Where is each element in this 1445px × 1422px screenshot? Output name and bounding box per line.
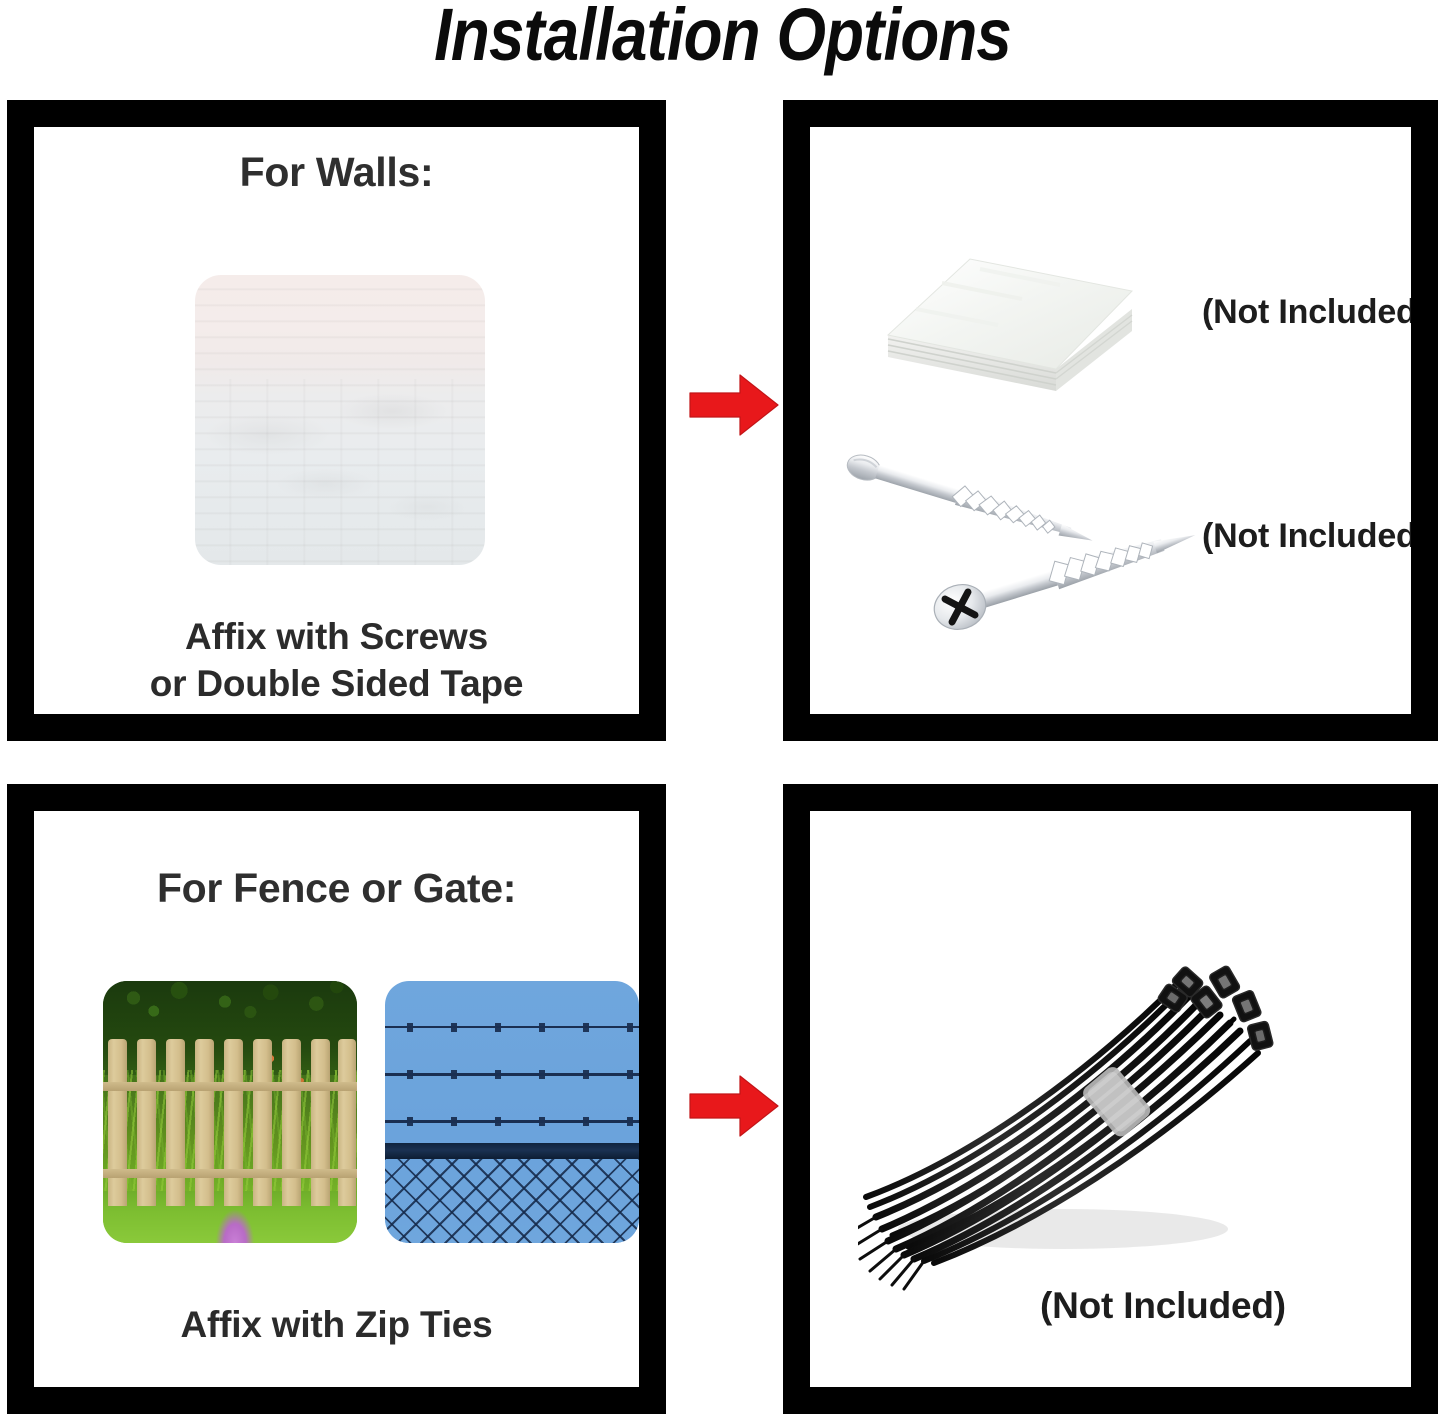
white-brick-wall-image (195, 275, 485, 565)
panel-for-walls: For Walls: Affix with Screws or Double S… (7, 100, 666, 741)
picket-fence-photo (103, 981, 357, 1243)
screw-icon-lower (920, 525, 1220, 640)
screws-not-included-label: (Not Included) (1202, 517, 1411, 556)
tape-not-included-label: (Not Included) (1202, 293, 1411, 332)
fence-heading: For Fence or Gate: (34, 865, 639, 912)
walls-heading: For Walls: (34, 149, 639, 196)
red-right-arrow-icon-bottom (688, 1073, 780, 1139)
panel-for-fence-or-gate: For Fence or Gate: (7, 784, 666, 1414)
double-sided-tape-stack-icon (880, 239, 1140, 399)
fence-caption: Affix with Zip Ties (34, 1301, 639, 1348)
page-title: Installation Options (101, 0, 1344, 74)
walls-caption-line1: Affix with Screws (34, 613, 639, 660)
chain-link-fence-photo (385, 981, 639, 1243)
panel-hardware: (Not Included) (783, 100, 1438, 741)
walls-caption-line2: or Double Sided Tape (34, 660, 639, 707)
zip-tie-bundle-icon (858, 911, 1288, 1301)
panel-zip-ties: (Not Included) (783, 784, 1438, 1414)
ziptie-not-included-label: (Not Included) (1040, 1285, 1286, 1327)
red-right-arrow-icon-top (688, 372, 780, 438)
